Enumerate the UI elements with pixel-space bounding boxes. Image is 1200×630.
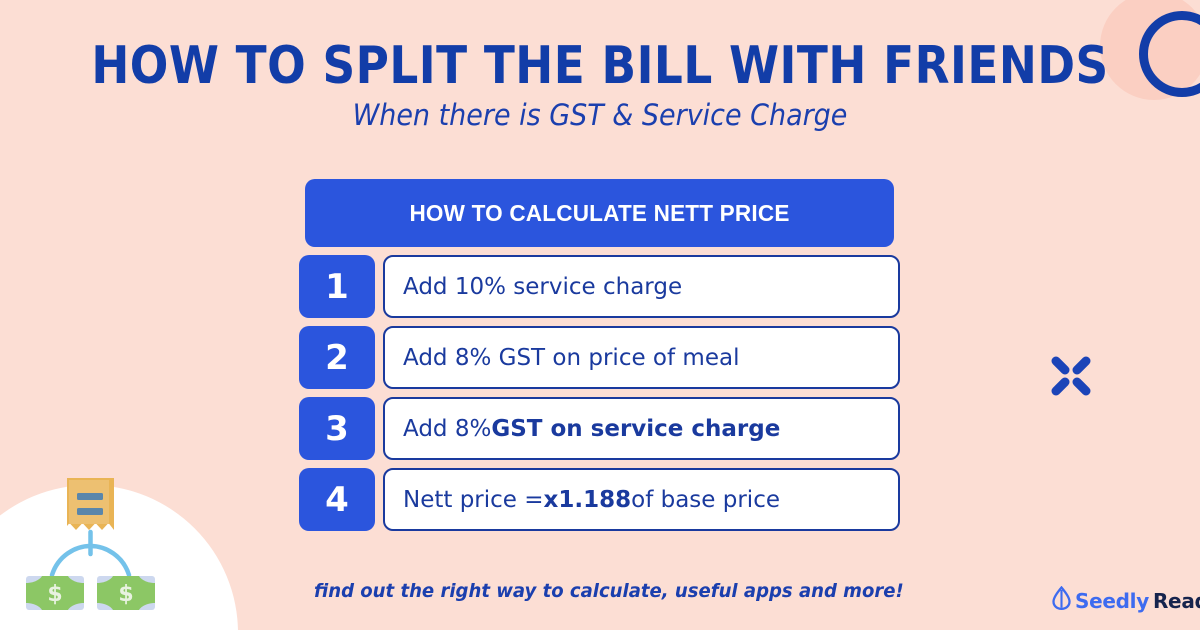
step-text-segment: of base price <box>631 487 780 513</box>
bill-split-illustration: $ $ <box>10 470 190 610</box>
step-row: 1Add 10% service charge <box>299 255 900 318</box>
step-text-segment: Nett price = <box>403 487 544 513</box>
step-row: 4Nett price = x1.188 of base price <box>299 468 900 531</box>
step-row: 2Add 8% GST on price of meal <box>299 326 900 389</box>
step-text-segment: x1.188 <box>544 487 632 513</box>
step-text-segment: Add 8% <box>403 416 491 442</box>
seedly-droplet-icon <box>1052 586 1071 615</box>
page-subtitle: When there is GST & Service Charge <box>42 98 1158 132</box>
steps-list: 1Add 10% service charge2Add 8% GST on pr… <box>299 255 900 531</box>
logo-brand-secondary: Reads <box>1153 589 1200 613</box>
page-title: HOW TO SPLIT THE BILL WITH FRIENDS <box>18 36 1182 96</box>
footer-note: find out the right way to calculate, use… <box>314 580 885 602</box>
receipt-icon <box>67 478 114 530</box>
step-text-box: Add 10% service charge <box>383 255 900 318</box>
step-text-box: Add 8% GST on price of meal <box>383 326 900 389</box>
split-arc <box>52 532 129 575</box>
svg-text:$: $ <box>118 582 133 607</box>
step-text-segment: Add 10% service charge <box>403 274 682 300</box>
step-text-segment: GST on service charge <box>491 416 780 442</box>
step-number-badge: 3 <box>299 397 375 460</box>
step-number-badge: 2 <box>299 326 375 389</box>
step-text-segment: Add 8% GST on price of meal <box>403 345 739 371</box>
seedly-reads-logo[interactable]: Seedly Reads <box>1052 586 1200 615</box>
step-text-box: Nett price = x1.188 of base price <box>383 468 900 531</box>
svg-text:$: $ <box>47 582 62 607</box>
four-point-sparkle-icon <box>1050 355 1092 397</box>
card-header-label: HOW TO CALCULATE NETT PRICE <box>305 179 894 247</box>
nett-price-card: HOW TO CALCULATE NETT PRICE 1Add 10% ser… <box>299 179 900 531</box>
step-text-box: Add 8% GST on service charge <box>383 397 900 460</box>
banknote-right: $ <box>97 576 155 610</box>
step-number-badge: 4 <box>299 468 375 531</box>
logo-brand-primary: Seedly <box>1075 589 1149 613</box>
step-row: 3Add 8% GST on service charge <box>299 397 900 460</box>
banknote-left: $ <box>26 576 84 610</box>
infographic-canvas: HOW TO SPLIT THE BILL WITH FRIENDS When … <box>0 0 1200 630</box>
step-number-badge: 1 <box>299 255 375 318</box>
